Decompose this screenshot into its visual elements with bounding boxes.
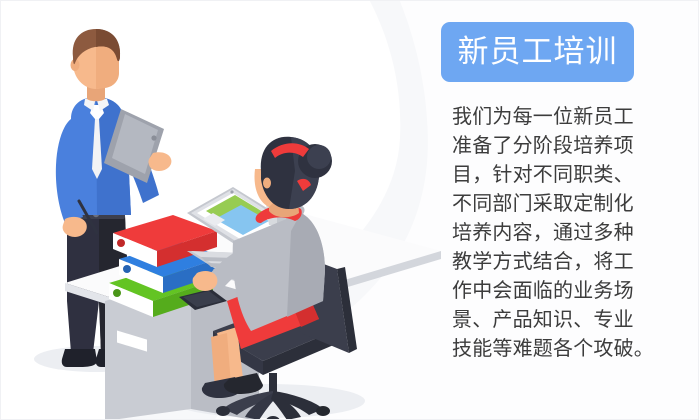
body-line: 教学方式结合，将工 <box>452 247 648 276</box>
body-line: 不同部门采取定制化 <box>452 189 648 218</box>
body-copy: 我们为每一位新员工 准备了分阶段培养项 目，针对不同职类、 不同部门采取定制化 … <box>452 102 648 363</box>
text-panel: 新员工培训 我们为每一位新员工 准备了分阶段培养项 目，针对不同职类、 不同部门… <box>441 1 699 420</box>
title-badge: 新员工培训 <box>441 22 634 82</box>
body-line: 技能等难题各个攻破。 <box>452 334 648 363</box>
office-training-illustration <box>1 1 461 420</box>
training-banner: 新员工培训 我们为每一位新员工 准备了分阶段培养项 目，针对不同职类、 不同部门… <box>0 0 699 420</box>
body-line: 准备了分阶段培养项 <box>452 131 648 160</box>
body-line: 我们为每一位新员工 <box>452 102 648 131</box>
body-line: 景、产品知识、专业 <box>452 305 648 334</box>
body-line: 作中会面临的业务场 <box>452 276 648 305</box>
man-hand-left <box>63 217 87 237</box>
man-shoe-left <box>62 349 97 367</box>
woman-hand <box>193 271 218 291</box>
man-hand-right <box>148 152 171 171</box>
body-line: 培养内容，通过多种 <box>452 218 648 247</box>
seated-woman <box>193 137 357 420</box>
body-line: 目，针对不同职类、 <box>452 160 648 189</box>
page-title: 新员工培训 <box>458 37 618 68</box>
